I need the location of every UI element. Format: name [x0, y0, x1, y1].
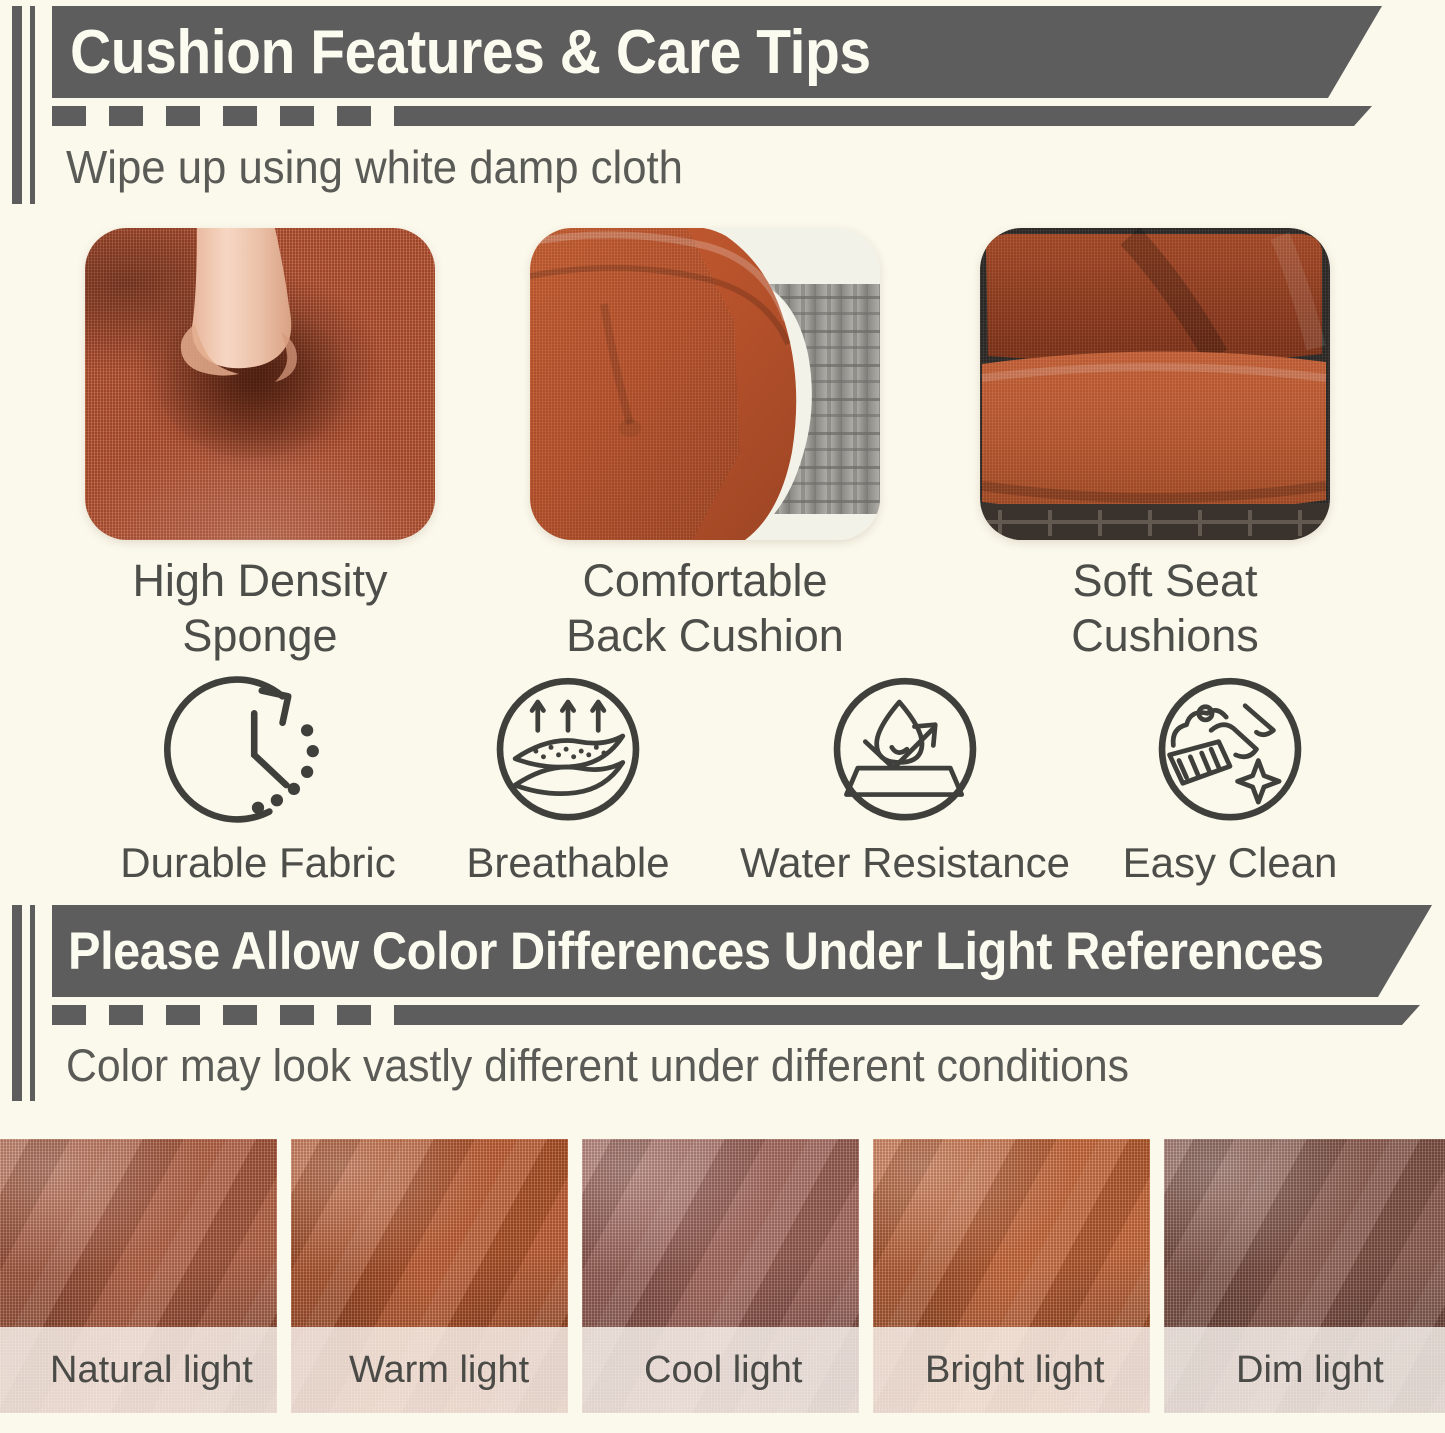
swatch-label-band: Warm light	[291, 1327, 568, 1413]
section-two-divider	[52, 1005, 1420, 1025]
divider-dash	[280, 1005, 314, 1025]
section-one-banner: Cushion Features & Care Tips	[52, 6, 1382, 98]
divider-dash	[223, 106, 257, 126]
left-accent-bar-thick-bottom	[12, 905, 22, 1101]
infographic-page: Cushion Features & Care Tips Wipe up usi…	[0, 0, 1445, 1433]
swatch-natural-light: Natural light	[0, 1139, 277, 1413]
swatch-label-band: Cool light	[582, 1327, 859, 1413]
section-one-subheading: Wipe up using white damp cloth	[66, 140, 683, 194]
water-droplet-repel-icon	[820, 668, 990, 838]
divider-dash	[109, 106, 143, 126]
feature-water-resistance: Water Resistance	[730, 668, 1080, 887]
divider-dash	[109, 1005, 143, 1025]
feature-label-breathable: Breathable	[418, 839, 718, 887]
section-two-subheading: Color may look vastly different under di…	[66, 1040, 1129, 1092]
swatch-label: Bright light	[925, 1349, 1105, 1392]
divider-dash	[337, 106, 371, 126]
divider-dash	[52, 106, 86, 126]
swatch-dim-light: Dim light	[1164, 1139, 1445, 1413]
swatch-label-band: Bright light	[873, 1327, 1150, 1413]
divider-dash	[280, 106, 314, 126]
section-two-banner: Please Allow Color Differences Under Lig…	[52, 905, 1432, 997]
hand-pressing-illustration	[85, 228, 435, 540]
feature-label-durable-fabric: Durable Fabric	[78, 839, 438, 887]
feature-easy-clean: Easy Clean	[1080, 668, 1380, 887]
caption-comfortable-back-cushion: Comfortable Back Cushion	[505, 554, 905, 664]
left-accent-bar-thick-top	[12, 6, 22, 204]
brush-sparkle-icon	[1145, 668, 1315, 838]
divider-dash	[52, 1005, 86, 1025]
divider-dash	[166, 106, 200, 126]
swatch-label: Dim light	[1236, 1349, 1384, 1392]
divider-rule	[394, 106, 1372, 126]
swatch-warm-light: Warm light	[291, 1139, 568, 1413]
swatch-label: Warm light	[349, 1349, 529, 1392]
divider-rule	[394, 1005, 1420, 1025]
swatch-label-band: Dim light	[1164, 1327, 1445, 1413]
swatch-label-band: Natural light	[0, 1327, 277, 1413]
caption-soft-seat-cushions: Soft Seat Cushions	[965, 554, 1365, 664]
divider-dash	[223, 1005, 257, 1025]
left-accent-bar-thin-top	[30, 6, 35, 204]
photo-comfortable-back-cushion	[530, 228, 880, 540]
breathable-fabric-icon	[483, 668, 653, 838]
photo-high-density-sponge	[85, 228, 435, 540]
swatch-label: Cool light	[644, 1349, 802, 1392]
section-two-banner-title: Please Allow Color Differences Under Lig…	[68, 921, 1323, 982]
section-one-divider	[52, 106, 1372, 126]
left-accent-bar-thin-bottom	[30, 905, 35, 1101]
divider-dash	[337, 1005, 371, 1025]
feature-label-water-resistance: Water Resistance	[730, 839, 1080, 887]
caption-high-density-sponge: High Density Sponge	[60, 554, 460, 664]
photo-soft-seat-cushions	[980, 228, 1330, 540]
feature-breathable: Breathable	[418, 668, 718, 887]
feature-durable-fabric: Durable Fabric	[78, 668, 438, 887]
swatch-bright-light: Bright light	[873, 1139, 1150, 1413]
divider-dash	[166, 1005, 200, 1025]
swatch-cool-light: Cool light	[582, 1139, 859, 1413]
feature-label-easy-clean: Easy Clean	[1080, 839, 1380, 887]
section-one-banner-title: Cushion Features & Care Tips	[70, 17, 871, 88]
swatch-label: Natural light	[50, 1349, 253, 1392]
clock-refresh-icon	[158, 668, 358, 838]
